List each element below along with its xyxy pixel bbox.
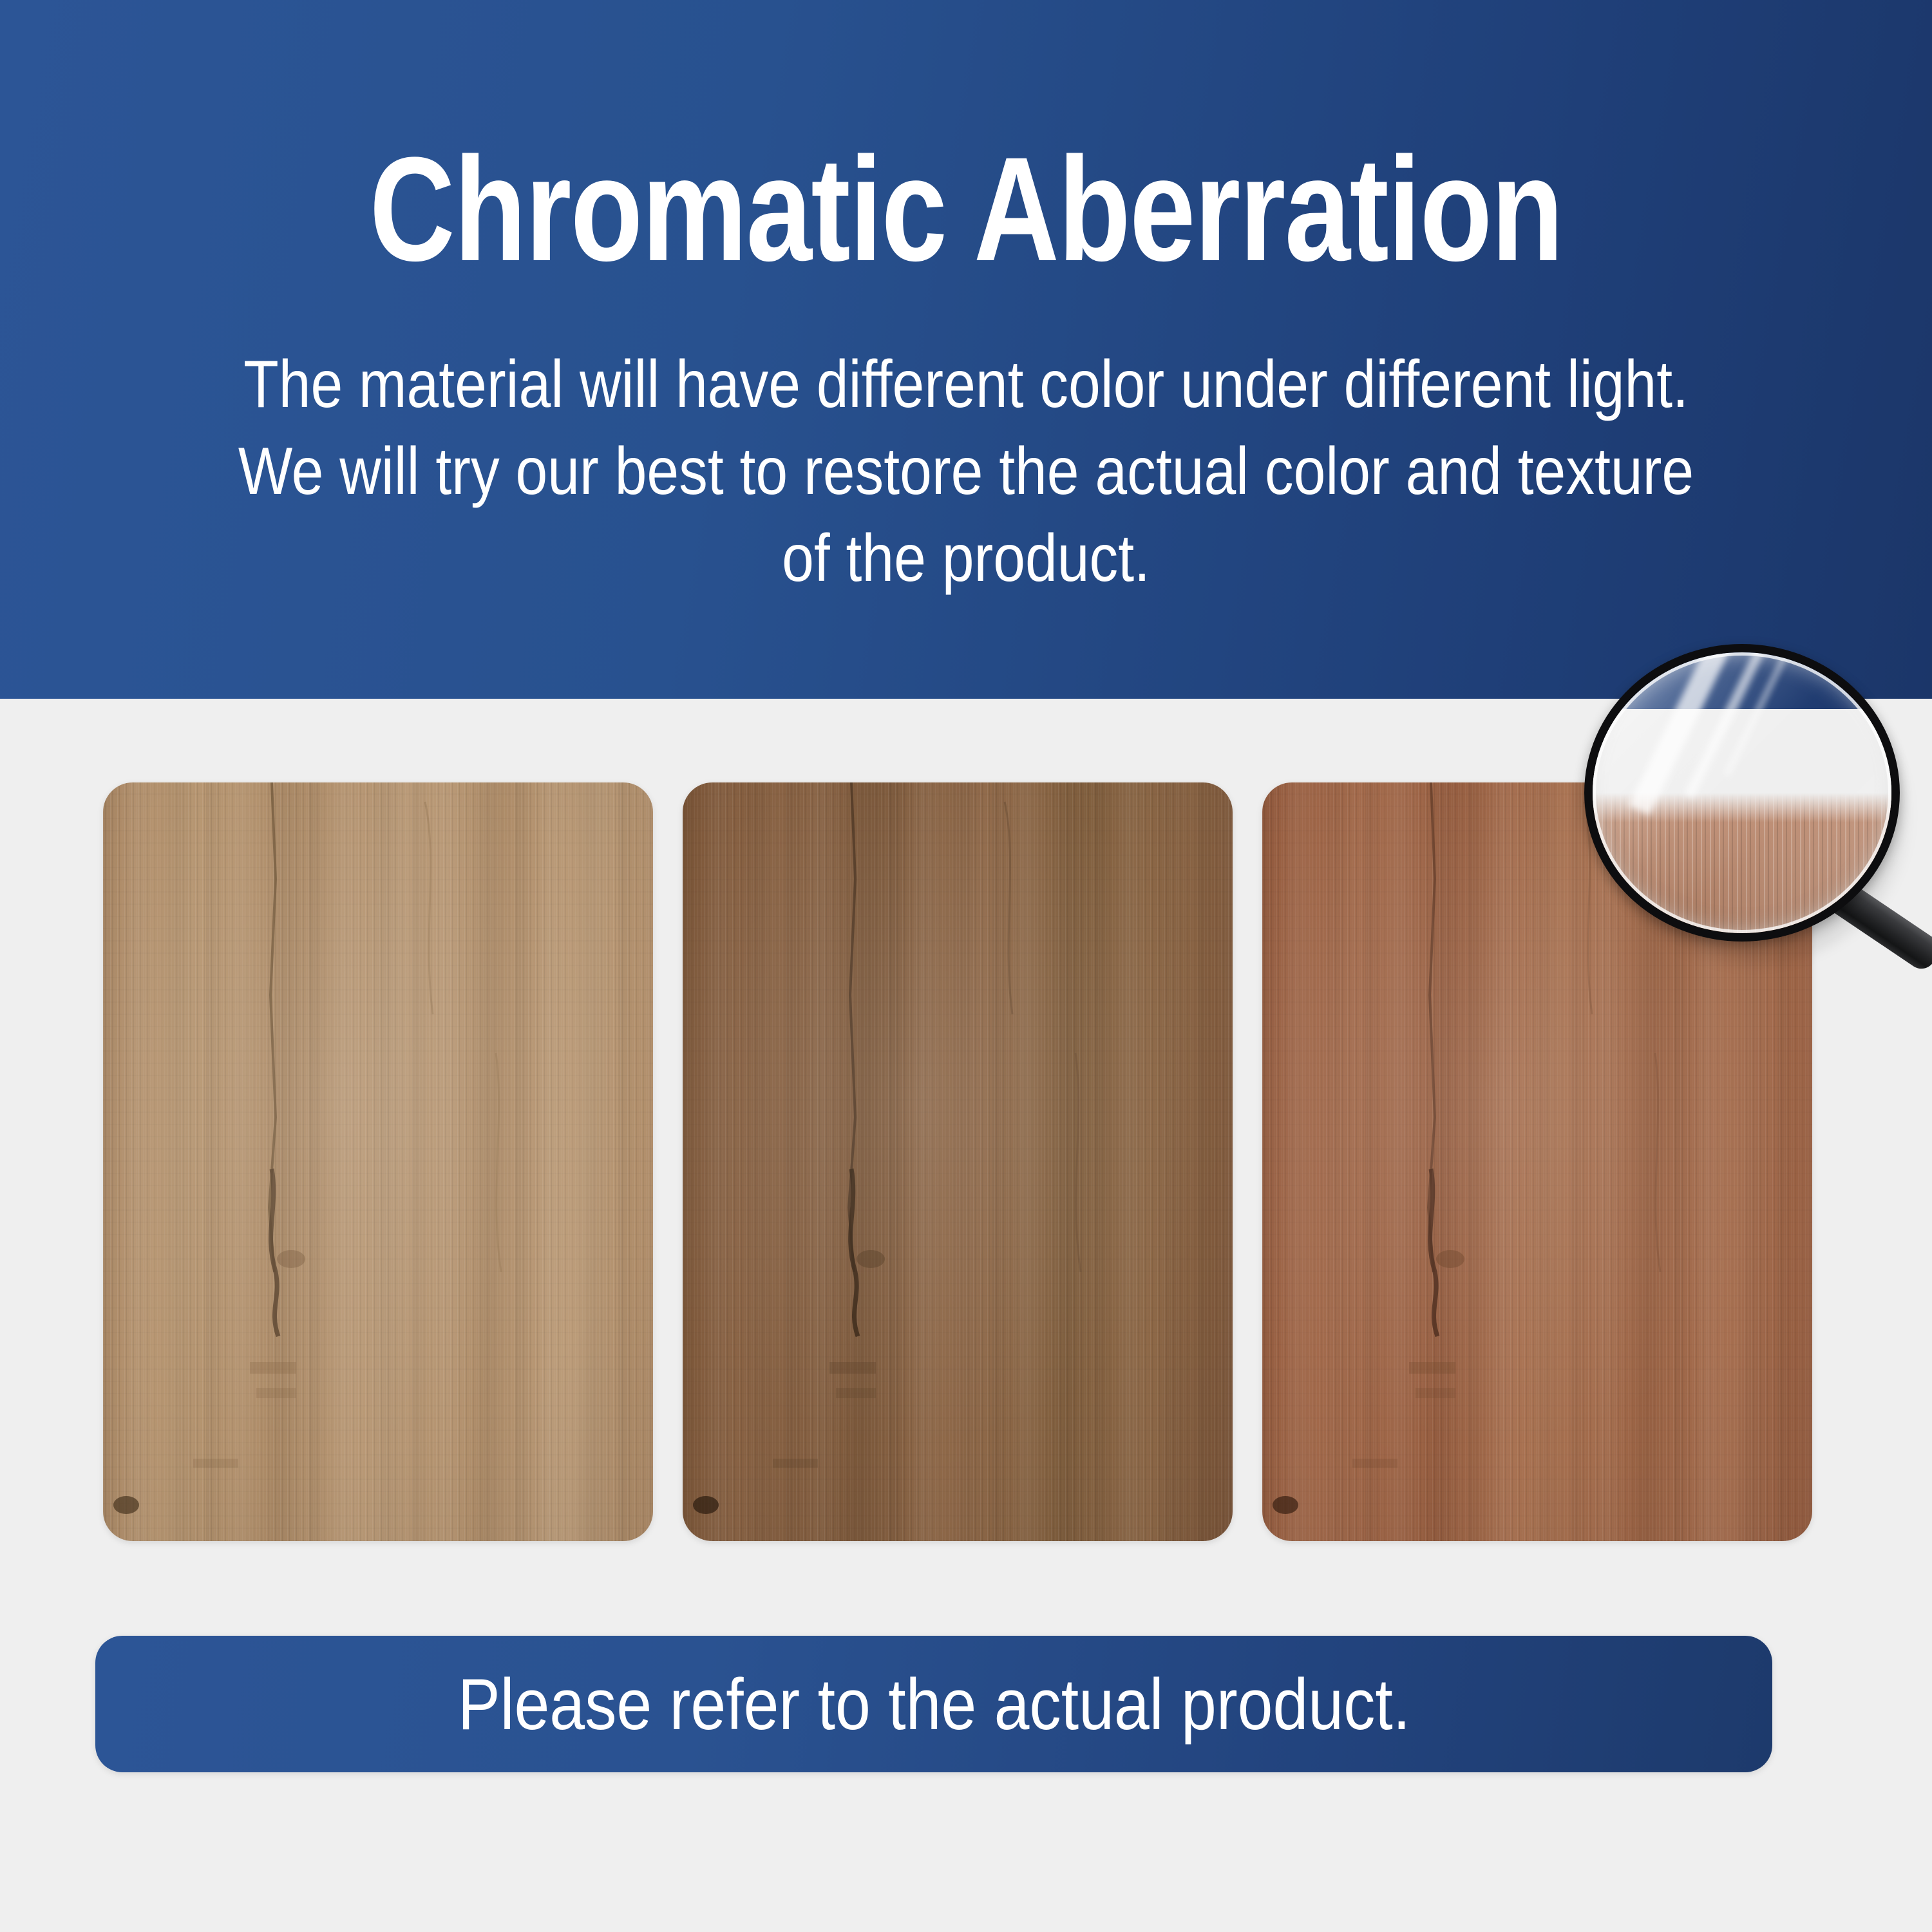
lens-view-background-band (1593, 709, 1891, 793)
header-subtitle: The material will have different color u… (218, 341, 1714, 603)
footer-banner-label: Please refer to the actual product. (457, 1663, 1410, 1746)
swatch-medium-walnut[interactable] (683, 782, 1233, 1541)
wood-shading (103, 782, 653, 1541)
wood-texture (1262, 782, 1812, 1541)
wood-shading (683, 782, 1233, 1541)
swatch-light-oak[interactable] (103, 782, 653, 1541)
swatch-row (0, 782, 1932, 1542)
footer-banner[interactable]: Please refer to the actual product. (95, 1636, 1772, 1772)
wood-shading (1262, 782, 1812, 1541)
wood-texture (683, 782, 1233, 1541)
header-banner: Chromatic Aberration The material will h… (0, 0, 1932, 699)
swatch-warm-chestnut[interactable] (1262, 782, 1812, 1541)
wood-texture (103, 782, 653, 1541)
page-title: Chromatic Aberration (193, 135, 1739, 283)
